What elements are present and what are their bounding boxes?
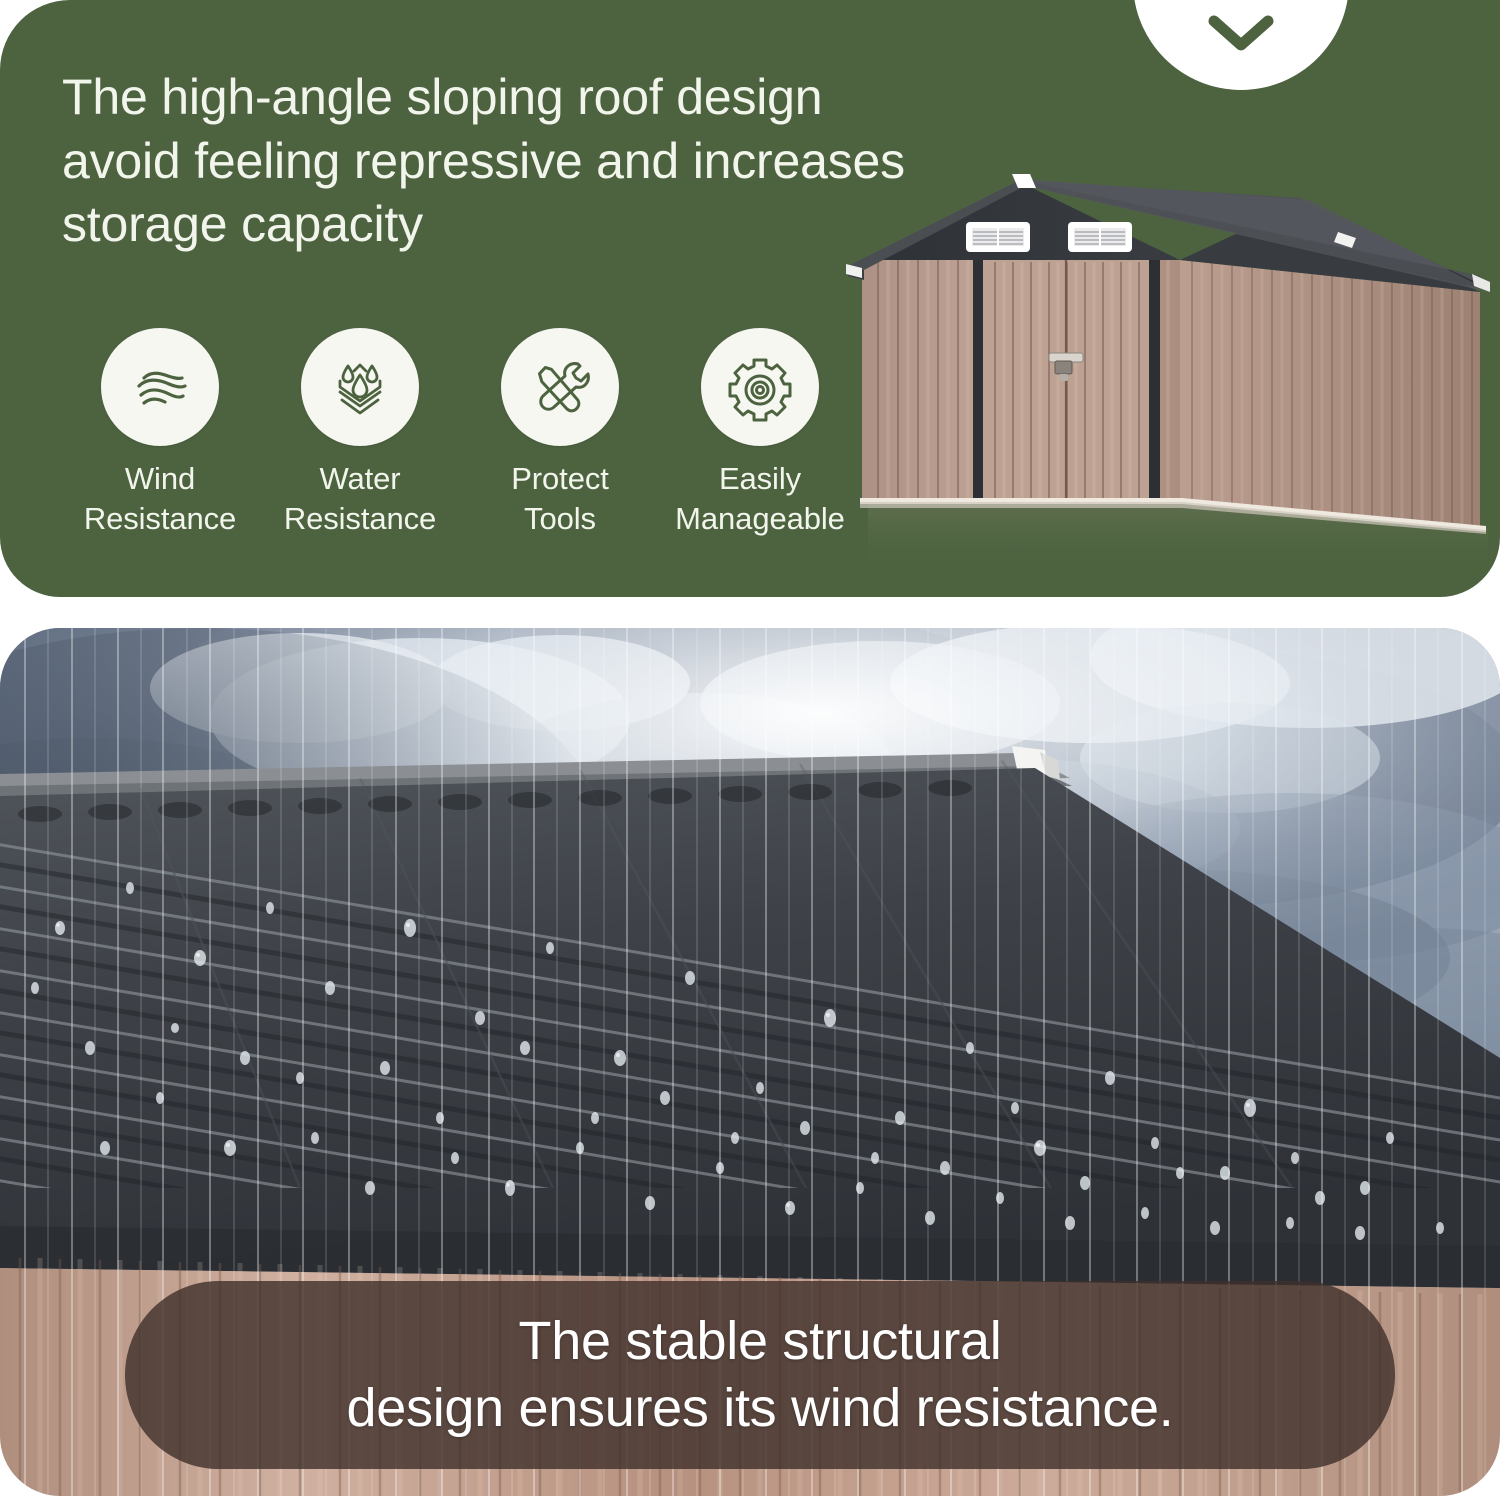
- door-jamb-left: [973, 260, 983, 500]
- gear-icon: [701, 328, 819, 446]
- page-title: The high-angle sloping roof design avoid…: [62, 66, 1032, 257]
- feature-item-easily-manageable[interactable]: Easily Manageable: [660, 328, 860, 538]
- caption-text: The stable structural design ensures its…: [347, 1308, 1174, 1442]
- feature-item-protect-tools[interactable]: Protect Tools: [460, 328, 660, 538]
- screwdriver-wrench-icon: [501, 328, 619, 446]
- feature-label: Water Resistance: [284, 459, 436, 538]
- feature-item-water-resistance[interactable]: Water Resistance: [260, 328, 460, 538]
- feature-list: Wind Resistance Water Resistance: [60, 328, 860, 538]
- roof-vent-right: [1068, 222, 1132, 252]
- door-jamb-right: [1149, 260, 1160, 500]
- feature-label: Protect Tools: [511, 459, 609, 538]
- feature-label: Easily Manageable: [675, 459, 845, 538]
- chevron-down-icon[interactable]: [1206, 13, 1276, 53]
- feature-item-wind-resistance[interactable]: Wind Resistance: [60, 328, 260, 538]
- wind-waves-icon: [101, 328, 219, 446]
- water-droplets-layers-icon: [301, 328, 419, 446]
- panel-collapse-notch[interactable]: [1133, 0, 1349, 90]
- caption-banner: The stable structural design ensures its…: [125, 1281, 1395, 1469]
- feature-label: Wind Resistance: [84, 459, 236, 538]
